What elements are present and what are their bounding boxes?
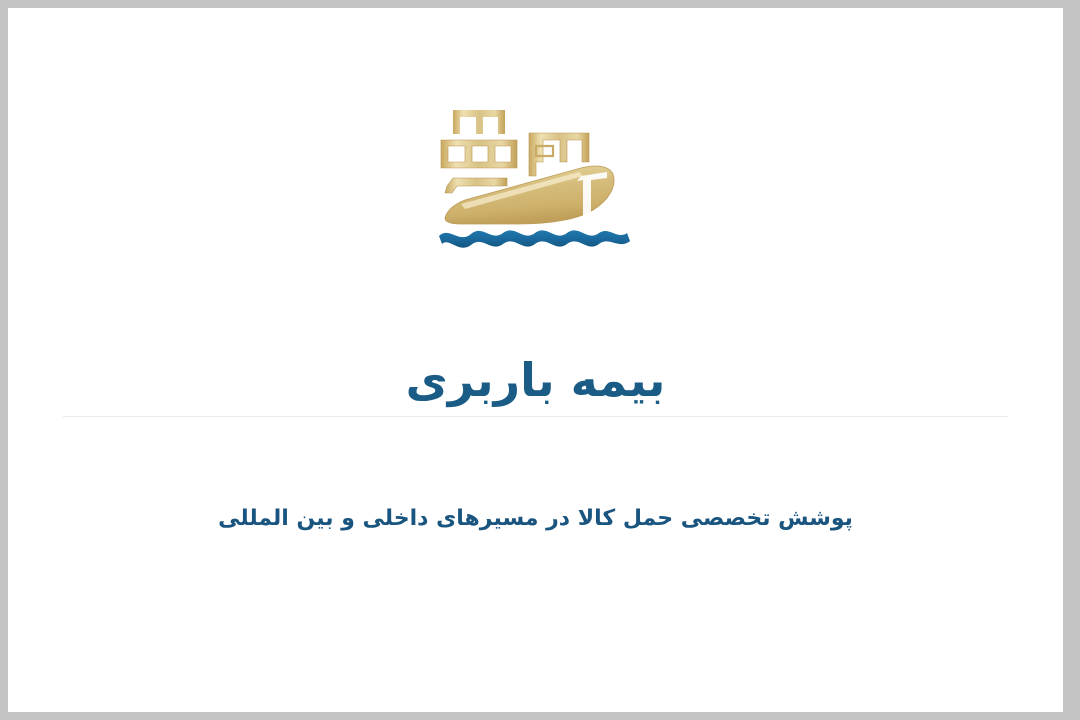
page-title: بیمه باربری <box>8 351 1063 411</box>
slide-canvas: بیمه باربری پوشش تخصصی حمل کالا در مسیره… <box>8 8 1063 712</box>
divider <box>63 416 1008 417</box>
logo-container <box>8 100 1063 250</box>
water-waves-icon <box>439 230 630 247</box>
slide-frame: بیمه باربری پوشش تخصصی حمل کالا در مسیره… <box>0 0 1080 720</box>
container-middle-icon <box>441 140 517 168</box>
divider-container <box>8 416 1063 417</box>
container-top-icon <box>453 110 505 134</box>
cargo-ship-logo <box>431 100 641 250</box>
page-subtitle: پوشش تخصصی حمل کالا در مسیرهای داخلی و ب… <box>8 502 1063 535</box>
